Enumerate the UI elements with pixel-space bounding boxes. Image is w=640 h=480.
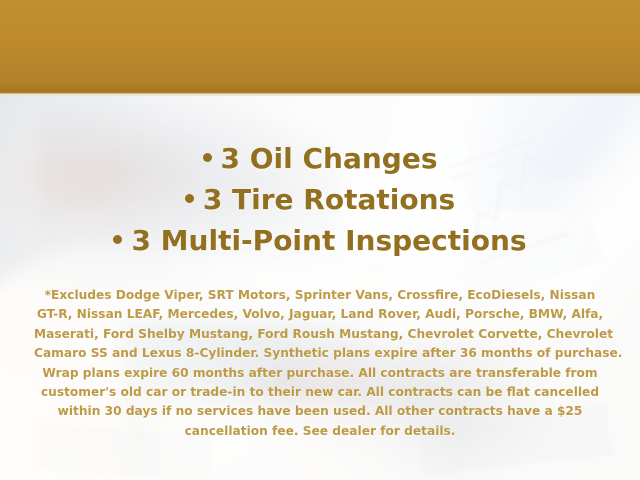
benefit-label: 3 Oil Changes [221,142,438,175]
benefits-list: 3 Oil Changes 3 Tire Rotations 3 Multi-P… [0,138,640,261]
list-item: 3 Tire Rotations [0,179,640,220]
extracare-package-ad: ExtraCare Package* 3 Oil Changes 3 Tire … [0,0,640,480]
disclaimer-line: *Excludes Dodge Viper, SRT Motors, Sprin… [34,286,606,305]
disclaimer-line: Maserati, Ford Shelby Mustang, Ford Rous… [34,325,606,344]
bullet-dot-icon [113,235,122,244]
benefit-label: 3 Multi-Point Inspections [131,224,526,257]
benefit-label: 3 Tire Rotations [203,183,455,216]
bullet-dot-icon [203,153,212,162]
disclaimer-block: *Excludes Dodge Viper, SRT Motors, Sprin… [34,286,606,441]
list-item: 3 Oil Changes [0,138,640,179]
list-item: 3 Multi-Point Inspections [0,220,640,261]
disclaimer-line: cancellation fee. See dealer for details… [34,422,606,441]
header-band-bottom-edge [0,92,640,96]
disclaimer-line: GT-R, Nissan LEAF, Mercedes, Volvo, Jagu… [34,305,606,324]
disclaimer-line: Wrap plans expire 60 months after purcha… [34,364,606,383]
disclaimer-line: within 30 days if no services have been … [34,402,606,421]
header-band [0,0,640,92]
disclaimer-line: Camaro SS and Lexus 8-Cylinder. Syntheti… [34,344,606,363]
disclaimer-line: customer's old car or trade-in to their … [34,383,606,402]
bullet-dot-icon [185,194,194,203]
